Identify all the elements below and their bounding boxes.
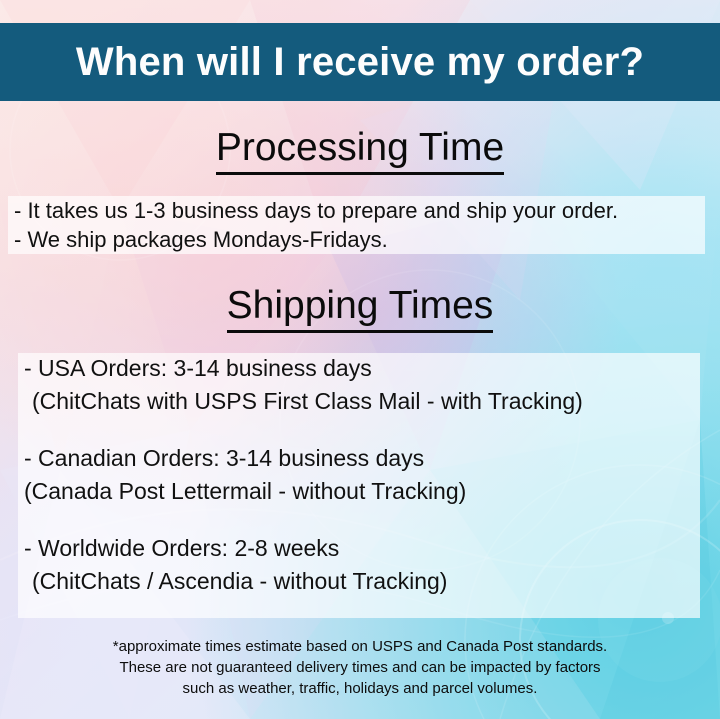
shipping-block-detail: (ChitChats / Ascendia - without Tracking…: [24, 565, 714, 598]
shipping-times-heading: Shipping Times: [0, 286, 720, 325]
shipping-block-worldwide: - Worldwide Orders: 2-8 weeks (ChitChats…: [24, 532, 714, 598]
processing-line: - We ship packages Mondays-Fridays.: [14, 225, 714, 254]
shipping-block-main: - Canadian Orders: 3-14 business days: [24, 442, 714, 475]
processing-time-heading: Processing Time: [0, 128, 720, 167]
disclaimer-line: such as weather, traffic, holidays and p…: [0, 678, 720, 699]
shipping-block-detail: (Canada Post Lettermail - without Tracki…: [24, 475, 714, 508]
shipping-block-usa: - USA Orders: 3-14 business days (ChitCh…: [24, 352, 714, 418]
shipping-block-canadian: - Canadian Orders: 3-14 business days (C…: [24, 442, 714, 508]
shipping-block-main: - USA Orders: 3-14 business days: [24, 352, 714, 385]
page-title: When will I receive my order?: [76, 42, 644, 82]
processing-time-heading-text: Processing Time: [216, 126, 504, 175]
faq-poster: When will I receive my order? Processing…: [0, 0, 720, 719]
disclaimer-note: *approximate times estimate based on USP…: [0, 636, 720, 699]
header-band: When will I receive my order?: [0, 23, 720, 101]
shipping-block-main: - Worldwide Orders: 2-8 weeks: [24, 532, 714, 565]
shipping-times-heading-text: Shipping Times: [227, 284, 494, 333]
processing-time-lines: - It takes us 1-3 business days to prepa…: [14, 196, 714, 254]
processing-line: - It takes us 1-3 business days to prepa…: [14, 196, 714, 225]
disclaimer-line: *approximate times estimate based on USP…: [0, 636, 720, 657]
disclaimer-line: These are not guaranteed delivery times …: [0, 657, 720, 678]
shipping-block-detail: (ChitChats with USPS First Class Mail - …: [24, 385, 714, 418]
shipping-times-blocks: - USA Orders: 3-14 business days (ChitCh…: [24, 352, 714, 598]
